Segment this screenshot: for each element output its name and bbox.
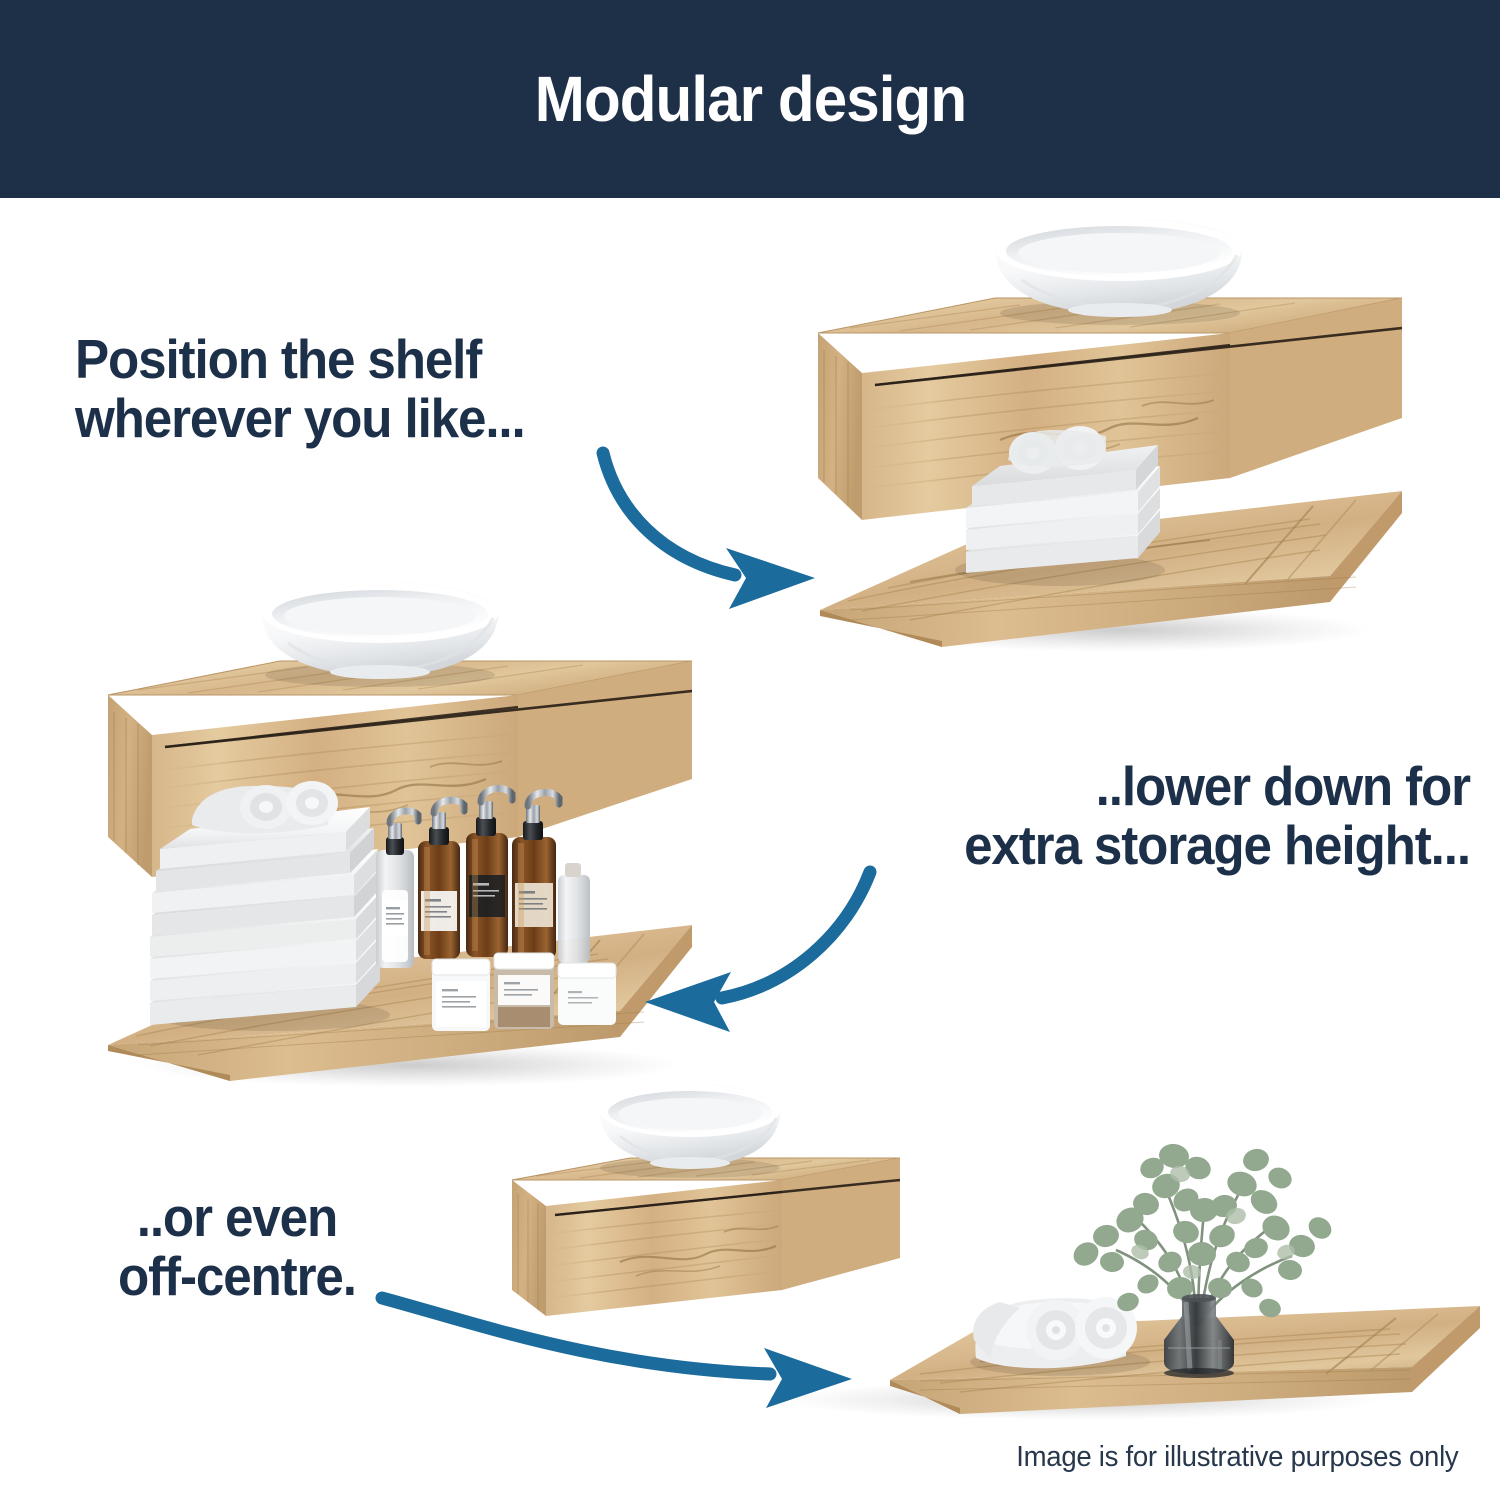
callout-off-centre: ..or even off-centre.: [118, 1188, 356, 1307]
infographic-page: Modular design: [0, 0, 1500, 1500]
storage-jar-white: [558, 963, 616, 1025]
callout-position-the-shelf: Position the shelf wherever you like...: [75, 330, 525, 449]
header-banner: Modular design: [0, 0, 1500, 198]
page-title: Modular design: [534, 67, 965, 131]
storage-jar-brown: [494, 953, 554, 1029]
callout-lower-down: ..lower down for extra storage height...: [964, 757, 1470, 876]
scene-shelf-lowered: [80, 575, 720, 1095]
countertop-basin: [996, 218, 1242, 325]
countertop-basin: [600, 1084, 780, 1178]
illustrative-purposes-footnote: Image is for illustrative purposes only: [1016, 1441, 1458, 1474]
pump-bottle-small: [558, 863, 590, 963]
scene-shelf-off-centre: [480, 1040, 1490, 1430]
oak-vanity-drawer-unit: [512, 1158, 900, 1316]
storage-jars: [432, 953, 616, 1031]
storage-jar-salt: [432, 959, 490, 1031]
smoked-glass-vase: [1164, 1294, 1234, 1378]
scene-shelf-centred-high: [790, 210, 1430, 660]
countertop-basin: [262, 582, 498, 687]
